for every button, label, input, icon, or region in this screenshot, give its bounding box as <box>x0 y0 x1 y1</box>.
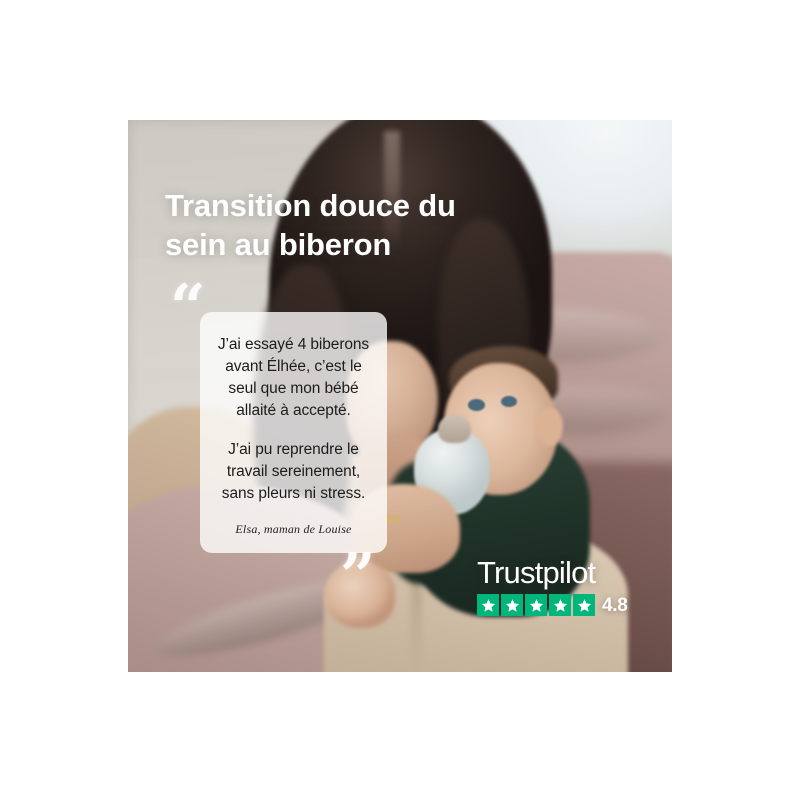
trustpilot-wordmark: Trustpilot <box>477 557 645 588</box>
trustpilot-score: 4.8 <box>602 596 628 615</box>
page-canvas: Transition douce du sein au biberon “ J’… <box>0 0 800 800</box>
testimonial-card: J’ai essayé 4 biberons avant Élhée, c’es… <box>200 312 387 553</box>
trustpilot-badge[interactable]: Trustpilot 4.8 <box>477 557 645 616</box>
promo-creative: Transition douce du sein au biberon “ J’… <box>128 120 672 672</box>
trustpilot-stars <box>477 594 595 616</box>
trustpilot-rating-row: 4.8 <box>477 594 645 616</box>
creative-headline: Transition douce du sein au biberon <box>165 186 495 264</box>
quote-close-mark-icon: ” <box>340 545 374 607</box>
testimonial-author: Elsa, maman de Louise <box>214 522 373 537</box>
star-icon <box>573 594 595 616</box>
star-icon <box>501 594 523 616</box>
testimonial-paragraph-2: J’ai pu reprendre le travail sereinement… <box>214 439 373 505</box>
testimonial-paragraph-1: J’ai essayé 4 biberons avant Élhée, c’es… <box>214 334 373 422</box>
star-icon <box>477 594 499 616</box>
quote-open-mark-icon: “ <box>170 276 204 338</box>
star-icon <box>549 594 571 616</box>
star-icon <box>525 594 547 616</box>
